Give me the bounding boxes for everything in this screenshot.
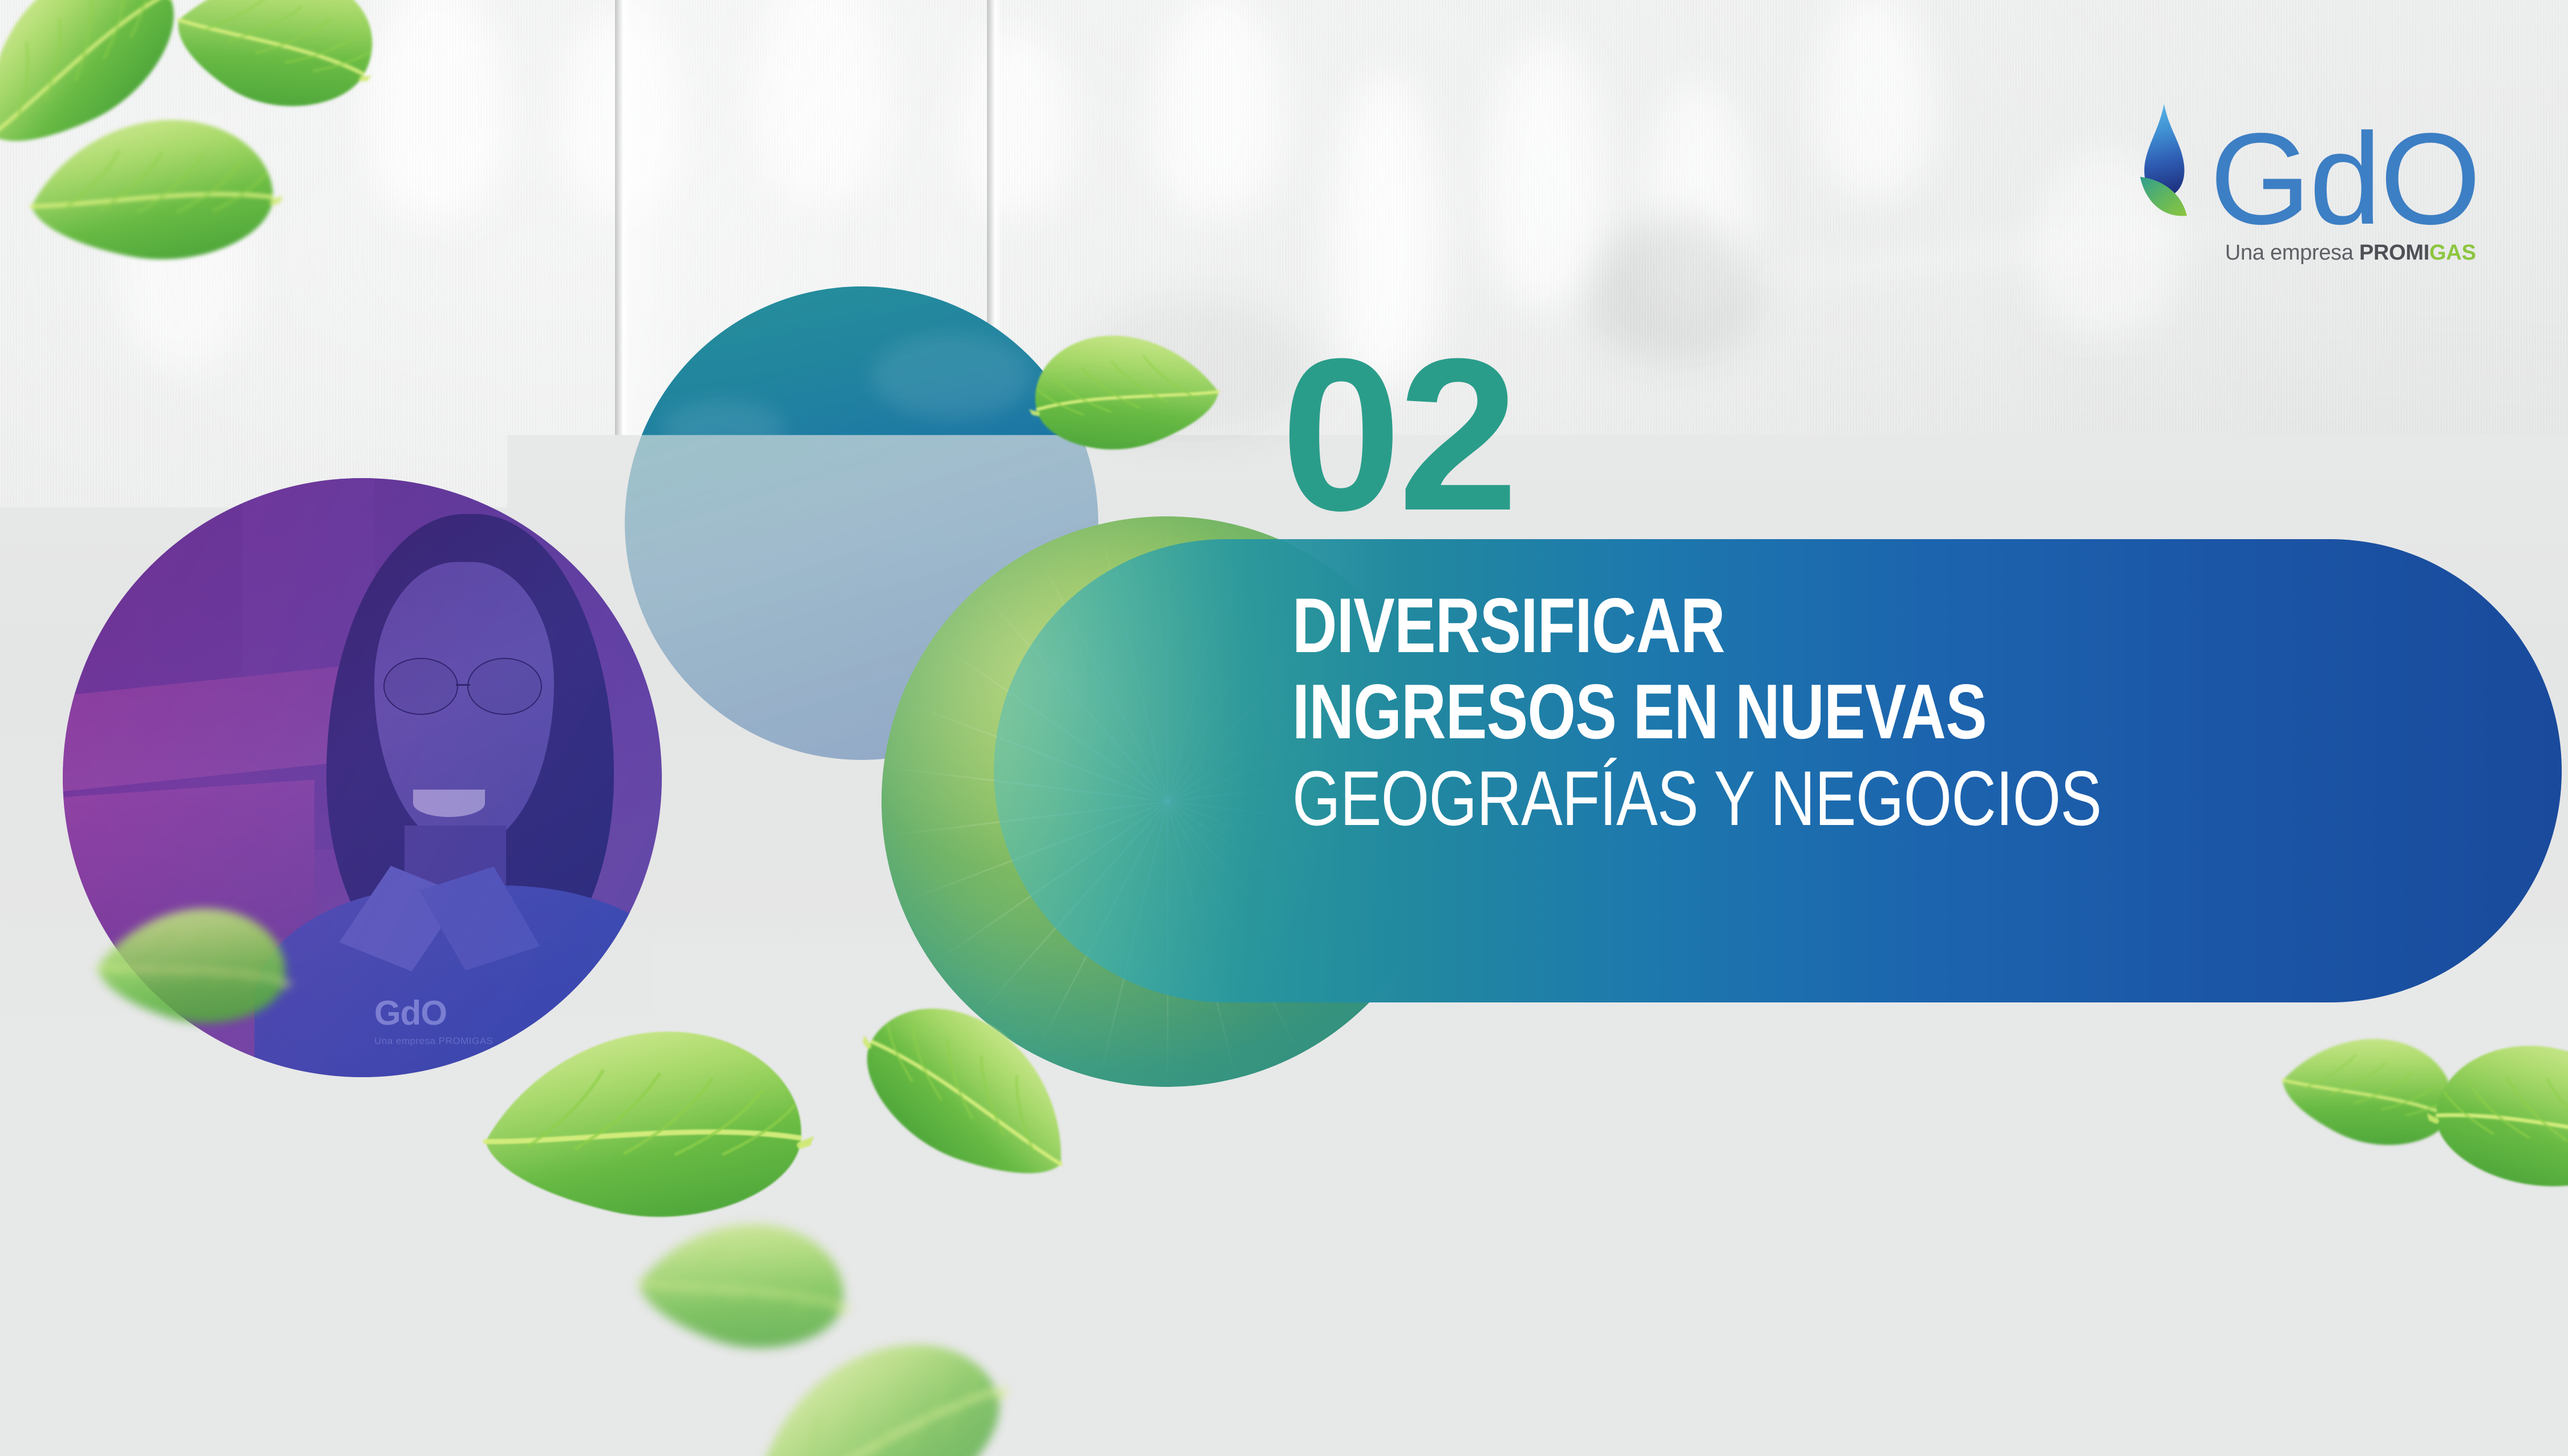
title-line-2: INGRESOS EN NUEVAS [1292, 673, 2101, 751]
logo-tagline-promi: PROMI [2359, 241, 2429, 265]
title-block: DIVERSIFICAR INGRESOS EN NUEVAS GEOGRAFÍ… [1292, 587, 2304, 838]
slide-canvas: GdO Una empresa PROMIGAS 02 DIVERSIFICAR… [0, 0, 2568, 1456]
logo-tagline-prefix: Una empresa [2225, 241, 2359, 265]
gdo-logo: GdO Una empresa PROMIGAS [2131, 102, 2480, 265]
logo-wordmark: GdO [2210, 126, 2480, 233]
section-number: 02 [1281, 326, 1515, 543]
flame-droplet-icon [2131, 102, 2215, 233]
logo-tagline-gas: GAS [2429, 241, 2476, 265]
title-line-3: GEOGRAFÍAS Y NEGOCIOS [1292, 759, 2101, 838]
title-line-1: DIVERSIFICAR [1292, 587, 2101, 665]
logo-tagline: Una empresa PROMIGAS [2131, 241, 2480, 265]
